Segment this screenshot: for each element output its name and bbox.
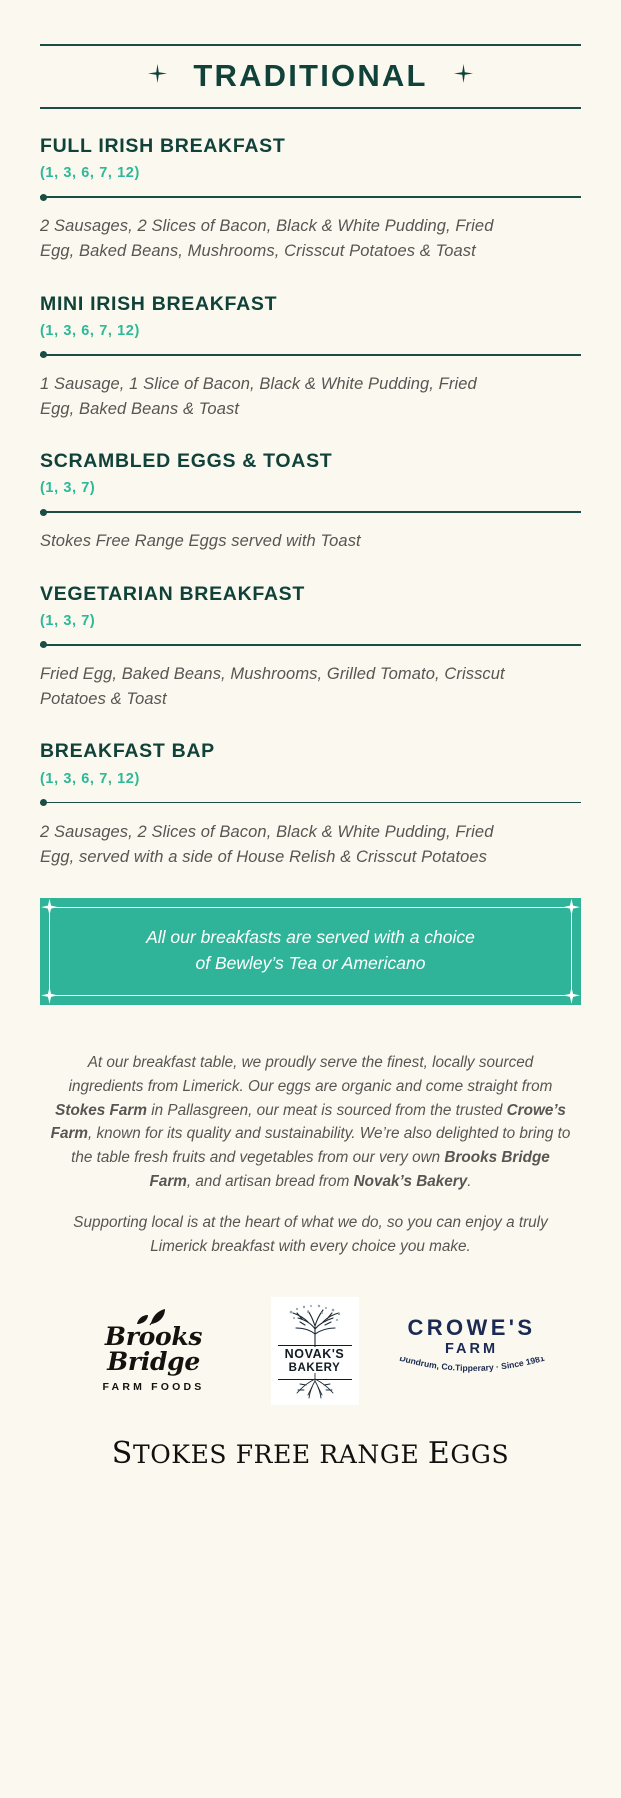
sparkle-icon-bottom-left — [41, 987, 58, 1004]
item-name: FULL IRISH BREAKFAST — [40, 135, 581, 158]
menu-item: MINI IRISH BREAKFAST (1, 3, 6, 7, 12) 1 … — [40, 293, 581, 423]
divider-dot-icon — [40, 351, 47, 358]
divider-dot-icon — [40, 509, 47, 516]
item-allergens: (1, 3, 6, 7, 12) — [40, 165, 581, 181]
item-description: Fried Egg, Baked Beans, Mushrooms, Grill… — [40, 662, 510, 712]
sparkle-icon-top-right — [563, 899, 580, 916]
divider-dot-icon — [40, 194, 47, 201]
story-paragraph-2: Supporting local is at the heart of what… — [50, 1211, 571, 1259]
menu-item: BREAKFAST BAP (1, 3, 6, 7, 12) 2 Sausage… — [40, 740, 581, 870]
story-p1-part-i: . — [467, 1173, 471, 1190]
logo-novaks-bakery: NOVAK'S BAKERY — [271, 1297, 359, 1405]
item-description: 2 Sausages, 2 Slices of Bacon, Black & W… — [40, 820, 510, 870]
divider-dot-icon — [40, 799, 47, 806]
roots-icon — [271, 1373, 359, 1404]
item-allergens: (1, 3, 6, 7, 12) — [40, 771, 581, 787]
sparkle-icon-left — [148, 64, 167, 87]
stokes-cap-e: E — [428, 1436, 451, 1471]
story-p1-part-c: in Pallasgreen, our meat is sourced from… — [147, 1102, 507, 1119]
supplier-logos: Brooks Bridge FARM FOODS — [40, 1297, 581, 1405]
logo-crowes-farm-word: FARM — [397, 1342, 547, 1357]
item-allergens: (1, 3, 7) — [40, 480, 581, 496]
item-allergens: (1, 3, 7) — [40, 613, 581, 629]
banner-line-2: of Bewley’s Tea or Americano — [74, 950, 547, 977]
section-header: TRADITIONAL — [40, 44, 581, 109]
logo-brooks-bridge: Brooks Bridge FARM FOODS — [75, 1308, 233, 1393]
tree-icon — [271, 1301, 359, 1352]
story-p1-part-g: , and artisan bread from — [187, 1173, 354, 1190]
banner-line-1: All our breakfasts are served with a cho… — [74, 924, 547, 951]
logo-crowes-tagline-wrap: Dundrum, Co.Tipperary · Since 1981 — [397, 1357, 547, 1384]
beverage-banner: All our breakfasts are served with a cho… — [40, 898, 581, 1005]
item-allergens: (1, 3, 6, 7, 12) — [40, 323, 581, 339]
item-divider — [40, 799, 581, 807]
story-farm-stokes: Stokes Farm — [55, 1102, 147, 1119]
item-description: Stokes Free Range Eggs served with Toast — [40, 529, 510, 554]
item-name: BREAKFAST BAP — [40, 740, 581, 763]
svg-text:Dundrum, Co.Tipperary · Since: Dundrum, Co.Tipperary · Since 1981 — [398, 1357, 545, 1373]
item-name: SCRAMBLED EGGS & TOAST — [40, 450, 581, 473]
stokes-text-1: TOKES FREE RANGE — [133, 1440, 428, 1469]
logo-stokes-free-range-eggs: STOKES FREE RANGE EGGS — [40, 1439, 581, 1469]
logo-brooks-bridge-name: Brooks Bridge — [75, 1324, 233, 1374]
item-divider — [40, 351, 581, 359]
logo-crowes-name: CROWE'S — [397, 1317, 547, 1339]
stokes-cap-s: S — [112, 1436, 133, 1471]
story-bakery-novaks: Novak’s Bakery — [354, 1173, 468, 1190]
item-description: 1 Sausage, 1 Slice of Bacon, Black & Whi… — [40, 372, 510, 422]
page-title: TRADITIONAL — [193, 60, 427, 91]
logo-brooks-bridge-subtitle: FARM FOODS — [75, 1381, 233, 1393]
item-divider — [40, 641, 581, 649]
menu-item: SCRAMBLED EGGS & TOAST (1, 3, 7) Stokes … — [40, 450, 581, 554]
logo-novaks-name: NOVAK'S — [278, 1348, 352, 1362]
story-p1-part-a: At our breakfast table, we proudly serve… — [69, 1054, 553, 1095]
menu-item: FULL IRISH BREAKFAST (1, 3, 6, 7, 12) 2 … — [40, 135, 581, 265]
sourcing-story: At our breakfast table, we proudly serve… — [40, 1051, 581, 1259]
divider-dot-icon — [40, 641, 47, 648]
sparkle-icon-right — [454, 64, 473, 87]
item-name: VEGETARIAN BREAKFAST — [40, 583, 581, 606]
menu-item: VEGETARIAN BREAKFAST (1, 3, 7) Fried Egg… — [40, 583, 581, 713]
item-divider — [40, 508, 581, 516]
logo-crowes-farm: CROWE'S FARM Dundrum, Co.Tipperary · Sin… — [397, 1317, 547, 1385]
item-name: MINI IRISH BREAKFAST — [40, 293, 581, 316]
stokes-text-2: GGS — [450, 1440, 509, 1469]
item-divider — [40, 193, 581, 201]
story-paragraph-1: At our breakfast table, we proudly serve… — [50, 1051, 571, 1194]
sparkle-icon-top-left — [41, 899, 58, 916]
menu-page: TRADITIONAL FULL IRISH BREAKFAST (1, 3, … — [0, 44, 621, 1798]
sparkle-icon-bottom-right — [563, 987, 580, 1004]
item-description: 2 Sausages, 2 Slices of Bacon, Black & W… — [40, 214, 510, 264]
menu-item-list: FULL IRISH BREAKFAST (1, 3, 6, 7, 12) 2 … — [40, 135, 581, 870]
